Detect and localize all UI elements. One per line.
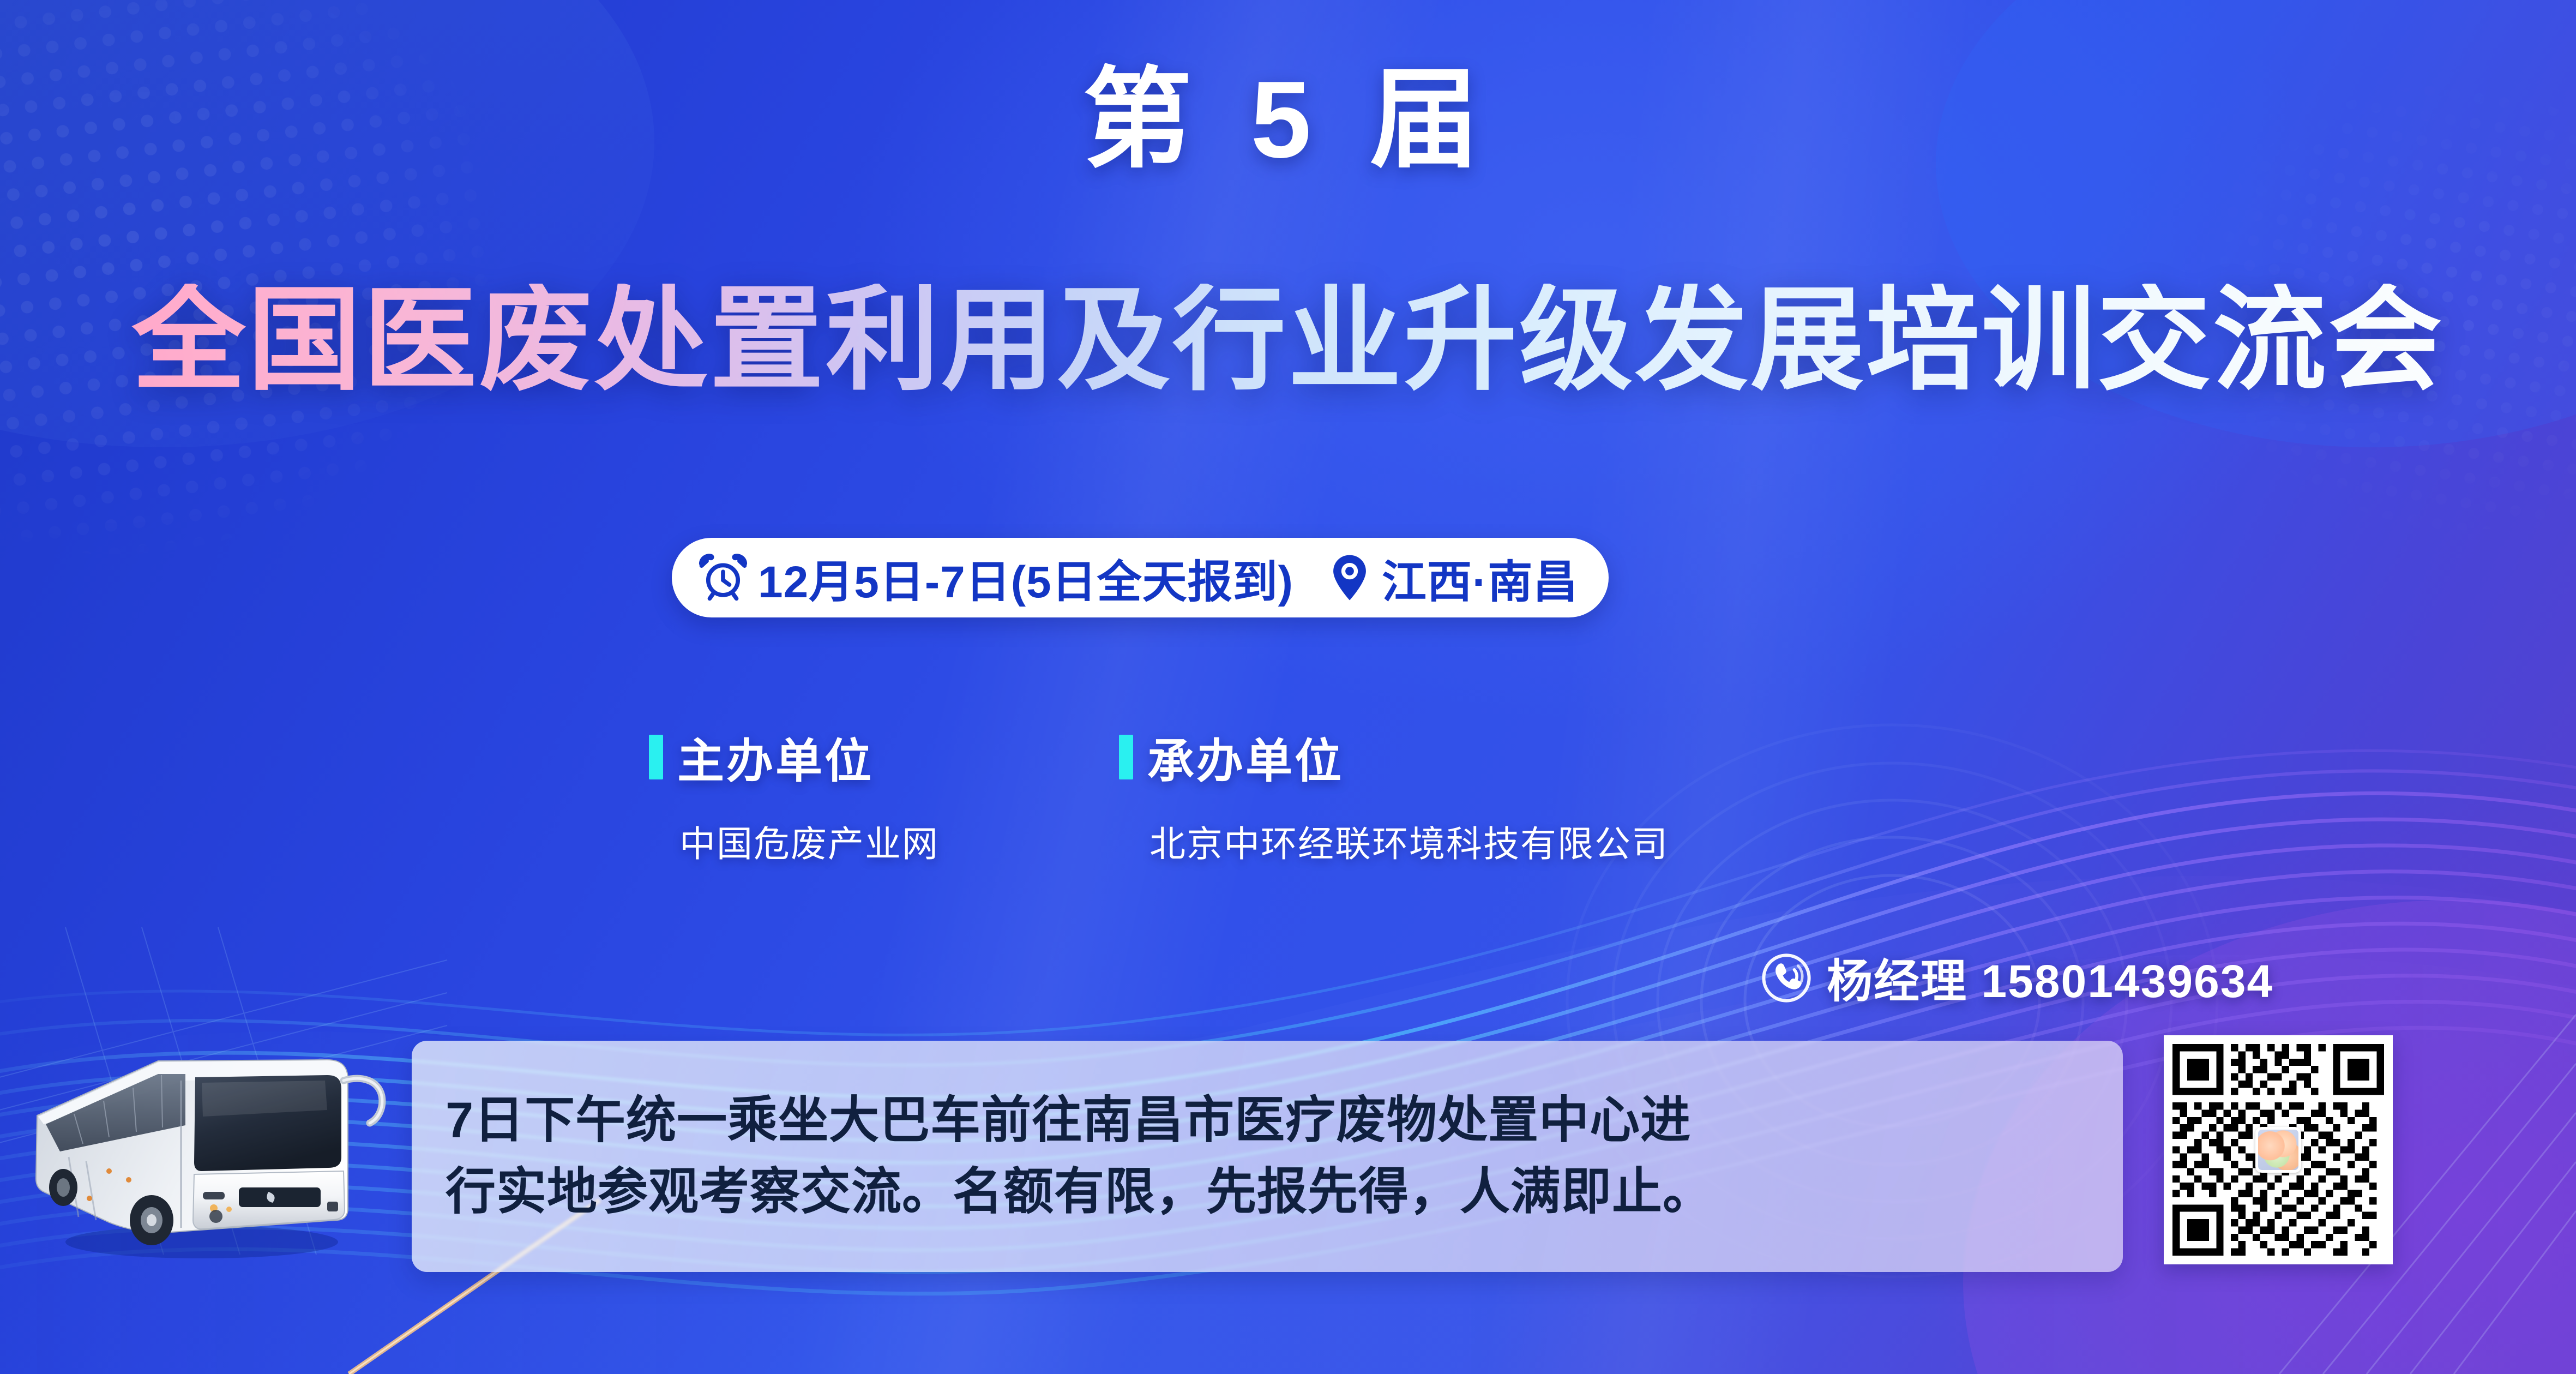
- contact-line: 杨经理 15801439634: [1760, 945, 2273, 1011]
- page-title-headline: 全国医废处置利用及行业升级发展培训交流会: [0, 284, 2576, 397]
- event-location: 江西·南昌: [1382, 545, 1578, 610]
- organizer-host-name: 中国危废产业网: [679, 815, 939, 867]
- organizer-block-host: 主办单位 中国危废产业网: [649, 723, 939, 867]
- event-info-pill: 12月5日-7日(5日全天报到) 江西·南昌: [672, 538, 1609, 617]
- event-date: 12月5日-7日(5日全天报到): [758, 545, 1293, 610]
- note-line-2: 行实地参观考察交流。名额有限，先报先得，人满即止。: [446, 1156, 2089, 1228]
- organizer-organizer-heading: 承办单位: [1119, 723, 1669, 791]
- accent-bar-icon: [649, 735, 663, 779]
- note-panel: 7日下午统一乘坐大巴车前往南昌市医疗废物处置中心进 行实地参观考察交流。名额有限…: [412, 1041, 2123, 1272]
- organizer-organizer-name: 北京中环经联环境科技有限公司: [1149, 815, 1669, 867]
- organizer-host-title: 主办单位: [677, 723, 874, 791]
- organizer-block-organizer: 承办单位 北京中环经联环境科技有限公司: [1119, 723, 1669, 867]
- organizer-host-heading: 主办单位: [649, 723, 939, 791]
- organizer-organizer-title: 承办单位: [1147, 723, 1344, 791]
- accent-bar-icon: [1119, 735, 1133, 779]
- contact-text: 杨经理 15801439634: [1827, 945, 2273, 1011]
- coach-bus-illustration: [22, 1028, 393, 1268]
- wechat-qr-code[interactable]: [2164, 1035, 2393, 1264]
- alarm-clock-icon: [698, 553, 748, 603]
- page-title-edition: 第 5 届: [0, 65, 2576, 175]
- location-pin-icon: [1327, 553, 1372, 603]
- organizers-section: 主办单位 中国危废产业网 承办单位 北京中环经联环境科技有限公司: [649, 723, 1669, 867]
- note-line-1: 7日下午统一乘坐大巴车前往南昌市医疗废物处置中心进: [446, 1085, 2089, 1156]
- qr-center-avatar: [2255, 1127, 2301, 1173]
- event-banner: 第 5 届 全国医废处置利用及行业升级发展培训交流会 12月5日-7日(5日全天…: [0, 0, 2576, 1374]
- phone-icon: [1760, 952, 1813, 1004]
